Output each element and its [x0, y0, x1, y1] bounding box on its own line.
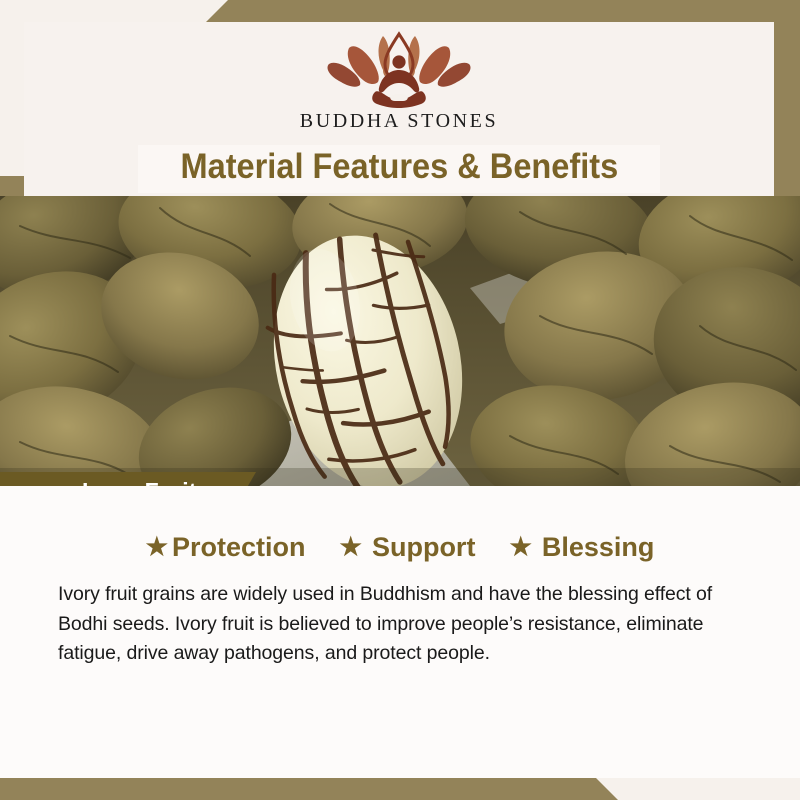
benefit-item-blessing: ★ Blessing [509, 532, 654, 563]
brand-logo: BUDDHA STONES [24, 22, 774, 140]
star-icon: ★ [340, 535, 362, 560]
ivory-fruit-photo [0, 196, 800, 486]
benefit-label: Support [372, 532, 475, 563]
product-feature-card: BUDDHA STONES Material Features & Benefi… [0, 0, 800, 800]
photo-artwork [0, 196, 800, 486]
frame-bottom-band [0, 778, 800, 800]
star-icon: ★ [509, 535, 531, 560]
description-panel: ★ Protection ★ Support ★ Blessing Ivory … [0, 486, 800, 778]
lotus-meditation-icon [319, 30, 479, 108]
benefits-row: ★ Protection ★ Support ★ Blessing [0, 532, 800, 563]
card-inner: BUDDHA STONES Material Features & Benefi… [24, 22, 774, 778]
brand-name: BUDDHA STONES [300, 110, 498, 133]
star-icon: ★ [146, 535, 168, 560]
frame-top-band [0, 0, 800, 22]
frame-left-cap [0, 176, 24, 198]
description-text: Ivory fruit grains are widely used in Bu… [58, 580, 764, 669]
title-banner: Material Features & Benefits [24, 140, 774, 198]
title-plate: Material Features & Benefits [138, 145, 661, 193]
benefit-item-protection: ★ Protection [146, 532, 306, 563]
page-title: Material Features & Benefits [180, 147, 618, 187]
benefit-label: Protection [172, 532, 306, 563]
benefit-label: Blessing [542, 532, 655, 563]
benefit-item-support: ★ Support [340, 532, 476, 563]
